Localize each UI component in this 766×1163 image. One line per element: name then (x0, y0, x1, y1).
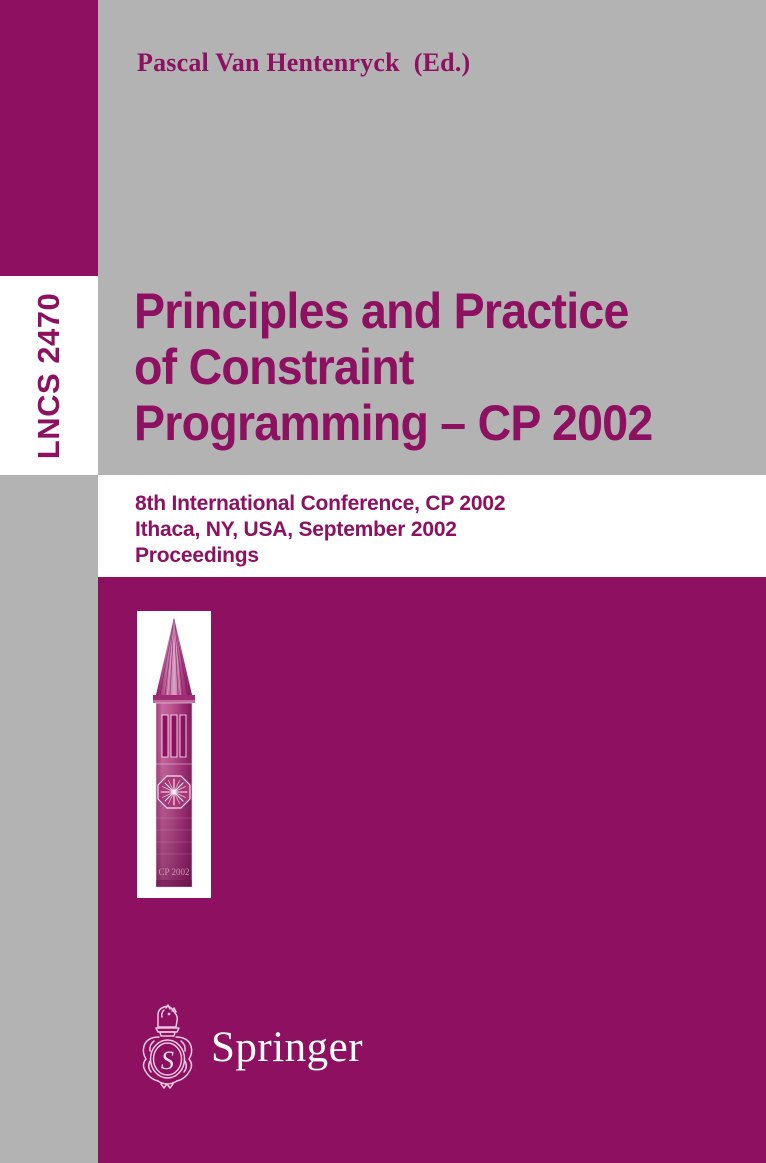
editor-name: Pascal Van Hentenryck (137, 48, 400, 77)
spine-gray-block (0, 475, 98, 1163)
clock-face-icon (158, 776, 190, 808)
springer-knight-crest-icon: S (133, 1001, 197, 1093)
tower-artwork: CP 2002 (137, 611, 211, 898)
subtitle-line-2: Ithaca, NY, USA, September 2002 (135, 517, 505, 543)
springer-logo: S Springer (133, 1001, 343, 1093)
title-line-2: of Constraint (134, 339, 711, 395)
tower-caption: CP 2002 (159, 867, 190, 877)
editor-role: (Ed.) (414, 48, 471, 77)
title-line-1: Principles and Practice (134, 283, 711, 339)
springer-wordmark: Springer (211, 1026, 363, 1069)
spine-purple-block (0, 0, 98, 276)
tower-illustration: CP 2002 (137, 611, 211, 898)
subtitle-line-1: 8th International Conference, CP 2002 (135, 491, 505, 517)
title-line-3: Programming – CP 2002 (134, 395, 711, 451)
series-number-label: LNCS 2470 (0, 276, 98, 475)
subtitle-line-3: Proceedings (135, 543, 505, 569)
book-subtitle: 8th International Conference, CP 2002 It… (135, 491, 505, 569)
book-title: Principles and Practice of Constraint Pr… (134, 283, 711, 451)
book-cover: LNCS 2470 Pascal Van Hentenryck(Ed.) Pri… (0, 0, 766, 1163)
editor-line: Pascal Van Hentenryck(Ed.) (137, 48, 470, 78)
springer-monogram: S (161, 1046, 174, 1075)
series-number-text: LNCS 2470 (31, 292, 67, 458)
